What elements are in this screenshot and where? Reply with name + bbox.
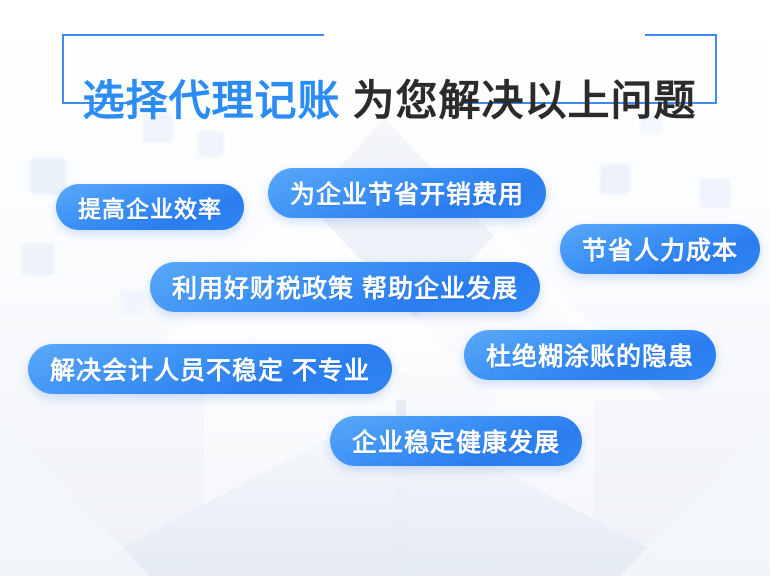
frame-line-top-right [645, 34, 717, 36]
decor-square [120, 290, 144, 314]
decor-square [30, 158, 66, 194]
benefit-pill-healthy-growth[interactable]: 企业稳定健康发展 [330, 416, 582, 466]
decor-square [700, 178, 730, 208]
title-plain-text: 为您解决以上问题 [353, 67, 697, 128]
decor-square [600, 164, 630, 194]
benefit-pill-staffing[interactable]: 解决会计人员不稳定 不专业 [28, 344, 392, 394]
frame-line-top-left [62, 34, 324, 36]
benefit-pill-clean-books[interactable]: 杜绝糊涂账的隐患 [464, 330, 716, 380]
pill-label: 杜绝糊涂账的隐患 [486, 337, 694, 373]
decor-square [198, 131, 224, 157]
wedge-left [0, 420, 150, 576]
title-accent-text: 选择代理记账 [82, 67, 340, 128]
pill-label: 解决会计人员不稳定 不专业 [50, 351, 370, 387]
benefit-pill-tax-policy[interactable]: 利用好财税政策 帮助企业发展 [150, 262, 540, 312]
pill-label: 节省人力成本 [582, 231, 738, 267]
decor-square [22, 243, 54, 275]
pill-label: 利用好财税政策 帮助企业发展 [172, 269, 518, 305]
pill-label: 企业稳定健康发展 [352, 423, 560, 459]
benefit-pill-save-labor[interactable]: 节省人力成本 [560, 224, 760, 274]
benefit-pill-save-expense[interactable]: 为企业节省开销费用 [268, 168, 546, 218]
wedge-right [620, 420, 770, 576]
banner-canvas: 选择代理记账 为您解决以上问题 提高企业效率 为企业节省开销费用 节省人力成本 … [0, 0, 770, 576]
pill-label: 为企业节省开销费用 [290, 175, 524, 211]
benefit-pill-efficiency[interactable]: 提高企业效率 [56, 184, 244, 230]
heading-block: 选择代理记账 为您解决以上问题 [62, 34, 717, 104]
page-title: 选择代理记账 为您解决以上问题 [62, 62, 717, 132]
pill-label: 提高企业效率 [78, 190, 222, 224]
